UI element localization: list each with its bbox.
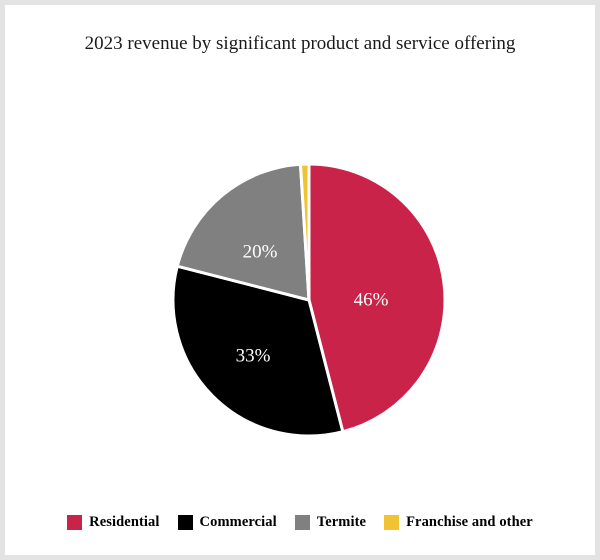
pie-plot-area: 46%33%20% — [5, 5, 595, 475]
legend-item[interactable]: Residential — [67, 514, 159, 531]
pie-slice-label: 20% — [243, 241, 278, 262]
legend-swatch-icon — [384, 515, 399, 530]
chart-legend: ResidentialCommercialTermiteFranchise an… — [5, 505, 595, 539]
pie-slices-group — [173, 164, 445, 436]
legend-item[interactable]: Franchise and other — [384, 514, 533, 531]
pie-slice-label: 33% — [236, 345, 271, 366]
legend-swatch-icon — [295, 515, 310, 530]
legend-item[interactable]: Termite — [295, 514, 366, 531]
legend-swatch-icon — [178, 515, 193, 530]
legend-item-label: Franchise and other — [406, 514, 533, 531]
pie-chart-figure: 2023 revenue by significant product and … — [5, 5, 595, 555]
legend-swatch-icon — [67, 515, 82, 530]
pie-slice-label: 46% — [354, 289, 389, 310]
legend-item-label: Residential — [89, 514, 159, 531]
figure-page: 2023 revenue by significant product and … — [0, 0, 600, 560]
legend-item[interactable]: Commercial — [178, 514, 277, 531]
legend-item-label: Termite — [317, 514, 366, 531]
pie-svg: 46%33%20% — [5, 5, 595, 475]
legend-item-label: Commercial — [200, 514, 277, 531]
